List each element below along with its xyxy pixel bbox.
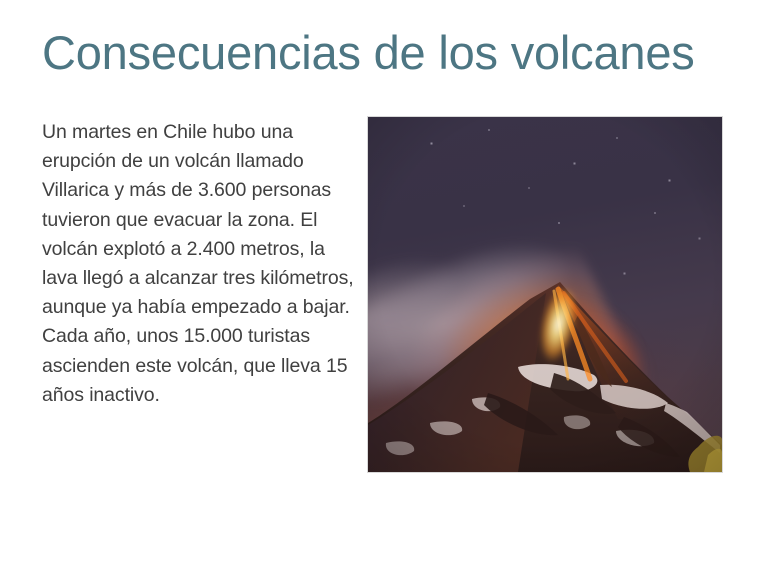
page-title: Consecuencias de los volcanes xyxy=(42,24,742,82)
body-text-block: Un martes en Chile hubo una erupción de … xyxy=(42,118,360,410)
body-paragraph-2: Cada año, unos 15.000 turistas ascienden… xyxy=(42,322,360,410)
erupting-volcano-photo xyxy=(368,117,722,472)
slide: Consecuencias de los volcanes Un martes … xyxy=(0,0,768,561)
body-paragraph-1: Un martes en Chile hubo una erupción de … xyxy=(42,118,360,322)
